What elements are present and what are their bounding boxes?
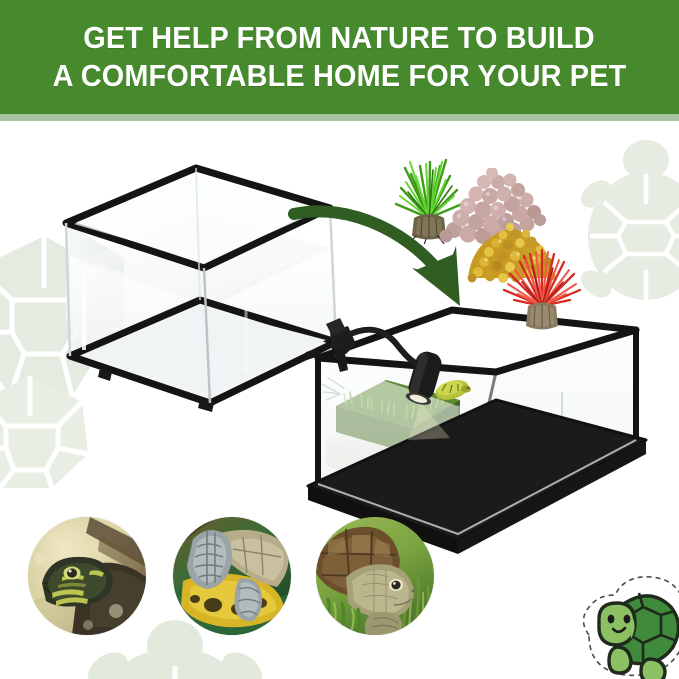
photo-turtle-plastron <box>173 517 291 635</box>
banner-line-1: GET HELP FROM NATURE TO BUILD <box>84 19 596 57</box>
red-urchin-plant <box>496 238 588 334</box>
flow-arrow-icon <box>288 198 493 323</box>
header-banner: GET HELP FROM NATURE TO BUILD A COMFORTA… <box>0 0 679 114</box>
cartoon-turtle-sticker <box>555 573 679 679</box>
photo-turtle-head-closeup <box>28 517 146 635</box>
banner-underline <box>0 114 679 121</box>
infographic-canvas: GET HELP FROM NATURE TO BUILD A COMFORTA… <box>0 0 679 679</box>
photo-tortoise-in-grass <box>316 517 434 635</box>
banner-line-2: A COMFORTABLE HOME FOR YOUR PET <box>53 57 627 95</box>
